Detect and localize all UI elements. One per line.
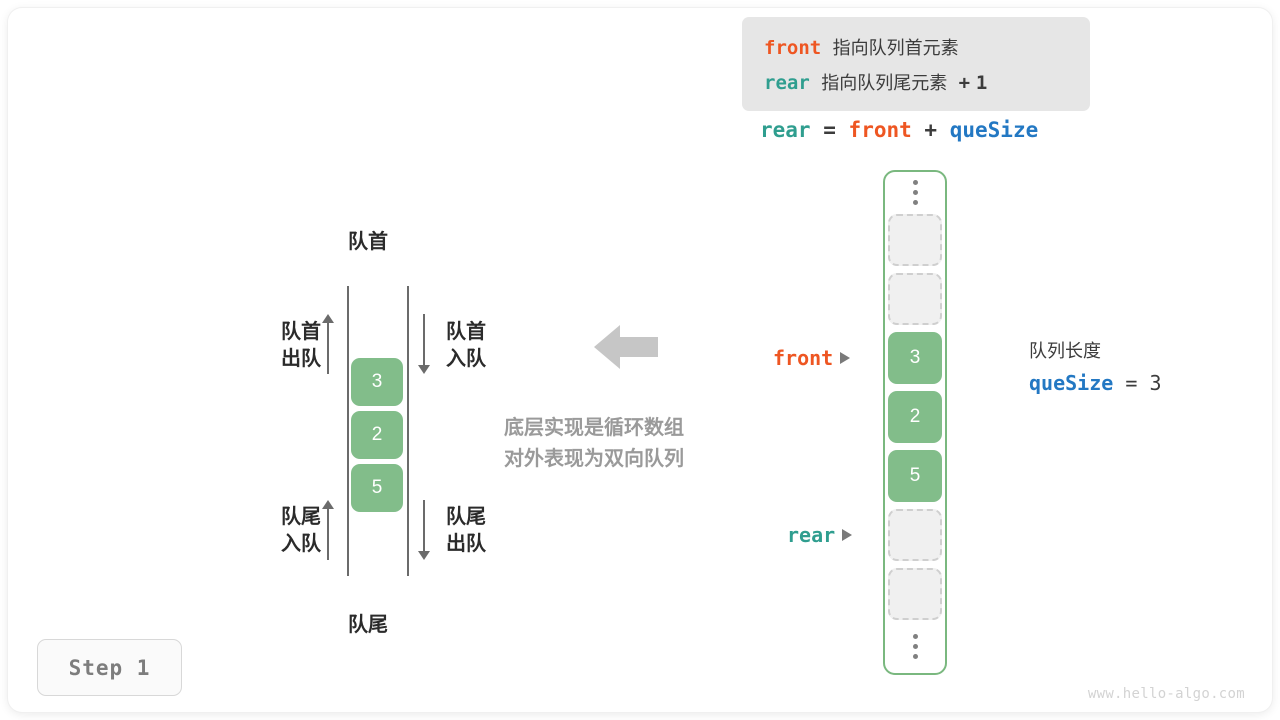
deque-node-1: 2 xyxy=(351,411,403,459)
formula-plus: + xyxy=(924,118,937,142)
front-pointer-arrow-icon xyxy=(840,352,850,364)
front-pointer: front xyxy=(773,346,850,370)
rear-pointer: rear xyxy=(787,523,852,547)
formula-equals: = xyxy=(823,118,836,142)
formula-rear: rear xyxy=(760,118,811,142)
rear-definition-one: 1 xyxy=(976,72,987,94)
queue-length-title: 队列长度 xyxy=(1029,337,1161,367)
queue-length-annotation: 队列长度 queSize = 3 xyxy=(1029,337,1161,399)
step-badge: Step 1 xyxy=(37,639,182,696)
tail-pop-label-line2: 出队 xyxy=(446,530,518,557)
rear-pointer-arrow-icon xyxy=(842,529,852,541)
front-definition-line: front 指向队列首元素 xyxy=(764,31,1068,66)
implements-arrow-icon xyxy=(594,323,658,371)
head-push-label-line1: 队首 xyxy=(446,318,518,345)
rear-formula: rear = front + queSize xyxy=(760,118,1038,142)
array-cell-1 xyxy=(888,273,942,325)
tail-push-label-line1: 队尾 xyxy=(249,503,321,530)
rear-token: rear xyxy=(764,72,810,94)
implementation-note-line2: 对外表现为双向队列 xyxy=(504,443,684,474)
head-push-arrow-icon xyxy=(418,314,430,374)
rear-definition-text: 指向队列尾元素 xyxy=(821,73,947,94)
array-cell-0 xyxy=(888,214,942,266)
deque-node-0: 3 xyxy=(351,358,403,406)
head-pop-arrow-icon xyxy=(322,314,334,374)
quesize-var: queSize xyxy=(1029,371,1113,395)
rear-definition-plus: + xyxy=(959,72,970,94)
implementation-note-line1: 底层实现是循环数组 xyxy=(504,412,684,443)
array-cell-4: 5 xyxy=(888,450,942,502)
head-pop-label-line2: 出队 xyxy=(249,345,321,372)
tail-push-label-line2: 入队 xyxy=(249,530,321,557)
deque-tail-label: 队尾 xyxy=(348,611,388,638)
quesize-equals: = xyxy=(1125,371,1137,395)
implementation-note: 底层实现是循环数组 对外表现为双向队列 xyxy=(504,412,684,474)
array-cell-3: 2 xyxy=(888,391,942,443)
array-bottom-ellipsis-icon xyxy=(888,626,942,666)
tail-pop-label-line1: 队尾 xyxy=(446,503,518,530)
formula-quesize: queSize xyxy=(950,118,1039,142)
array-top-ellipsis-icon xyxy=(888,172,942,212)
rear-definition-line: rear 指向队列尾元素 + 1 xyxy=(764,66,1068,101)
tail-pop-arrow-icon xyxy=(418,500,430,560)
front-definition-text: 指向队列首元素 xyxy=(833,38,959,59)
tail-push-arrow-icon xyxy=(322,500,334,560)
deque-head-label: 队首 xyxy=(348,228,388,255)
head-pop-label: 队首 出队 xyxy=(249,318,321,372)
watermark: www.hello-algo.com xyxy=(1088,686,1245,702)
rear-pointer-label: rear xyxy=(787,523,835,547)
array-cell-2: 3 xyxy=(888,332,942,384)
queue-length-expression: queSize = 3 xyxy=(1029,367,1161,399)
diagram-canvas: front 指向队列首元素 rear 指向队列尾元素 + 1 rear = fr… xyxy=(0,0,1280,720)
head-push-label: 队首 入队 xyxy=(446,318,518,372)
array-cell-6 xyxy=(888,568,942,620)
head-pop-label-line1: 队首 xyxy=(249,318,321,345)
quesize-value: 3 xyxy=(1149,371,1161,395)
front-pointer-label: front xyxy=(773,346,833,370)
formula-front: front xyxy=(849,118,912,142)
array-cell-5 xyxy=(888,509,942,561)
deque-rail-right xyxy=(407,286,409,576)
tail-push-label: 队尾 入队 xyxy=(249,503,321,557)
deque-rail-left xyxy=(347,286,349,576)
tail-pop-label: 队尾 出队 xyxy=(446,503,518,557)
deque-node-2: 5 xyxy=(351,464,403,512)
front-token: front xyxy=(764,37,821,59)
head-push-label-line2: 入队 xyxy=(446,345,518,372)
pointer-definition-box: front 指向队列首元素 rear 指向队列尾元素 + 1 xyxy=(742,17,1090,111)
